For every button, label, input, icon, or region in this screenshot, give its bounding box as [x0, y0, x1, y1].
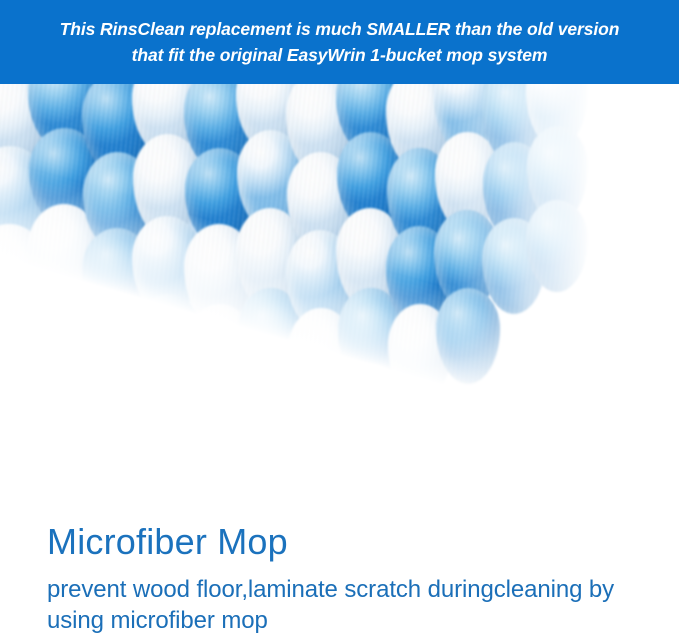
banner-headline-line-1: This RinsClean replacement is much SMALL… [60, 16, 620, 42]
mop-photo [0, 84, 679, 504]
fiber-column [526, 84, 588, 504]
caption-body: prevent wood floor,laminate scratch duri… [47, 574, 647, 636]
caption-block: Microfiber Mop prevent wood floor,lamina… [47, 520, 657, 636]
product-feature-image: This RinsClean replacement is much SMALL… [0, 0, 679, 643]
banner-headline-line-2: that fit the original EasyWrin 1-bucket … [132, 42, 548, 68]
headline-banner: This RinsClean replacement is much SMALL… [0, 0, 679, 84]
mop-fiber-illustration [0, 84, 679, 504]
caption-title: Microfiber Mop [47, 520, 657, 564]
